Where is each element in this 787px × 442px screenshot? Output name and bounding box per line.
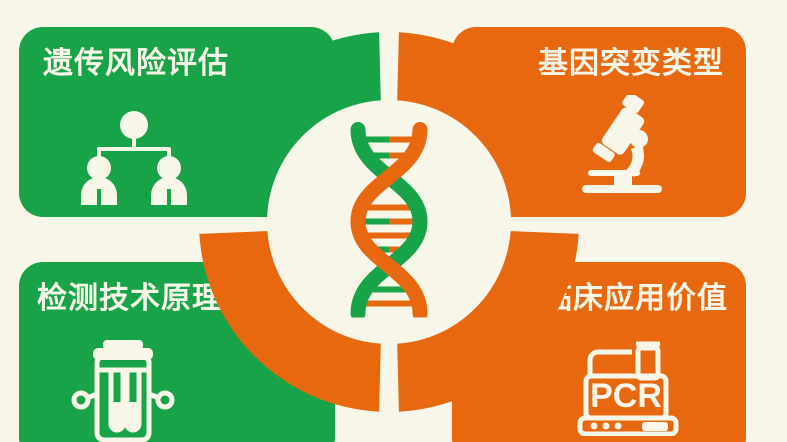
dna-double-helix-icon — [324, 122, 454, 323]
center-ring-group — [189, 22, 589, 422]
test-tube-rack-icon — [71, 336, 175, 442]
genetics-testing-infographic: 遗传风险评估 基因突变类型 — [0, 0, 787, 442]
pcr-machine-icon: PCR — [576, 332, 684, 441]
family-pedigree-tree-icon — [79, 105, 189, 210]
microscope-icon — [576, 95, 668, 204]
pcr-label: PCR — [590, 377, 662, 415]
